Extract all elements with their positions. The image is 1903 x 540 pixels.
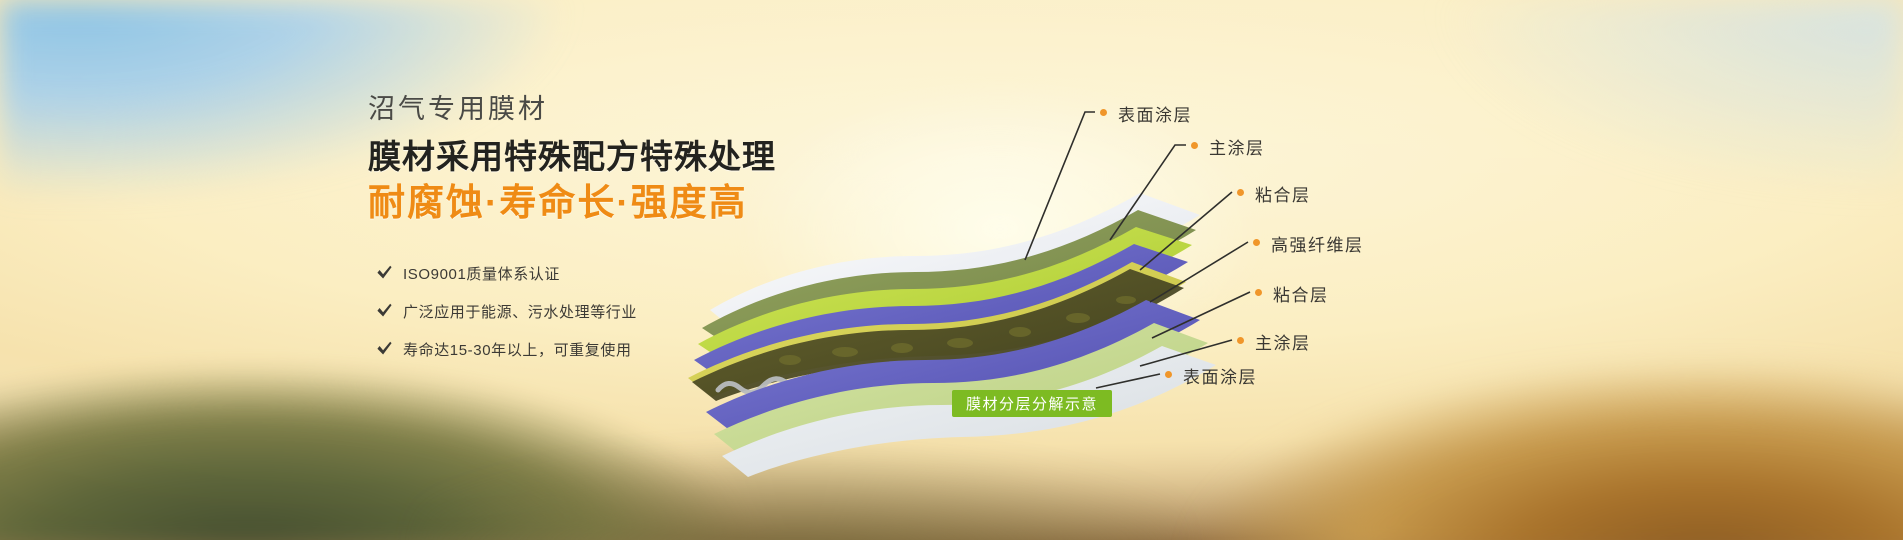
callout-label-surface-coating-top: 表面涂层 — [1118, 101, 1192, 126]
check-icon — [376, 265, 393, 282]
callout-label-adhesive-top: 粘合层 — [1255, 181, 1311, 206]
callout-label-adhesive-bottom: 粘合层 — [1273, 281, 1329, 306]
callout-label-fiber-layer: 高强纤维层 — [1271, 231, 1364, 256]
callout-dot — [1100, 109, 1107, 116]
callout-label-surface-coating-bottom: 表面涂层 — [1183, 363, 1257, 388]
feature-label: 广泛应用于能源、污水处理等行业 — [403, 301, 637, 322]
callout-label-main-coating-top: 主涂层 — [1209, 134, 1265, 159]
feature-label: ISO9001质量体系认证 — [403, 263, 560, 284]
callout-group: 表面涂层 主涂层 粘合层 高强纤维层 粘合层 主涂层 表面涂层 — [1000, 70, 1420, 400]
callout-dot — [1237, 189, 1244, 196]
hero-banner: 沼气专用膜材 膜材采用特殊配方特殊处理 耐腐蚀·寿命长·强度高 ISO9001质… — [0, 0, 1903, 540]
status-badge: 膜材分层分解示意 — [952, 390, 1112, 417]
check-icon — [376, 341, 393, 358]
callout-dot — [1237, 337, 1244, 344]
callout-dot — [1191, 142, 1198, 149]
check-icon — [376, 303, 393, 320]
callout-label-main-coating-bottom: 主涂层 — [1255, 329, 1311, 354]
feature-label: 寿命达15-30年以上，可重复使用 — [403, 339, 632, 360]
callout-dot — [1165, 371, 1172, 378]
callout-dot — [1255, 289, 1262, 296]
callout-dot — [1253, 239, 1260, 246]
